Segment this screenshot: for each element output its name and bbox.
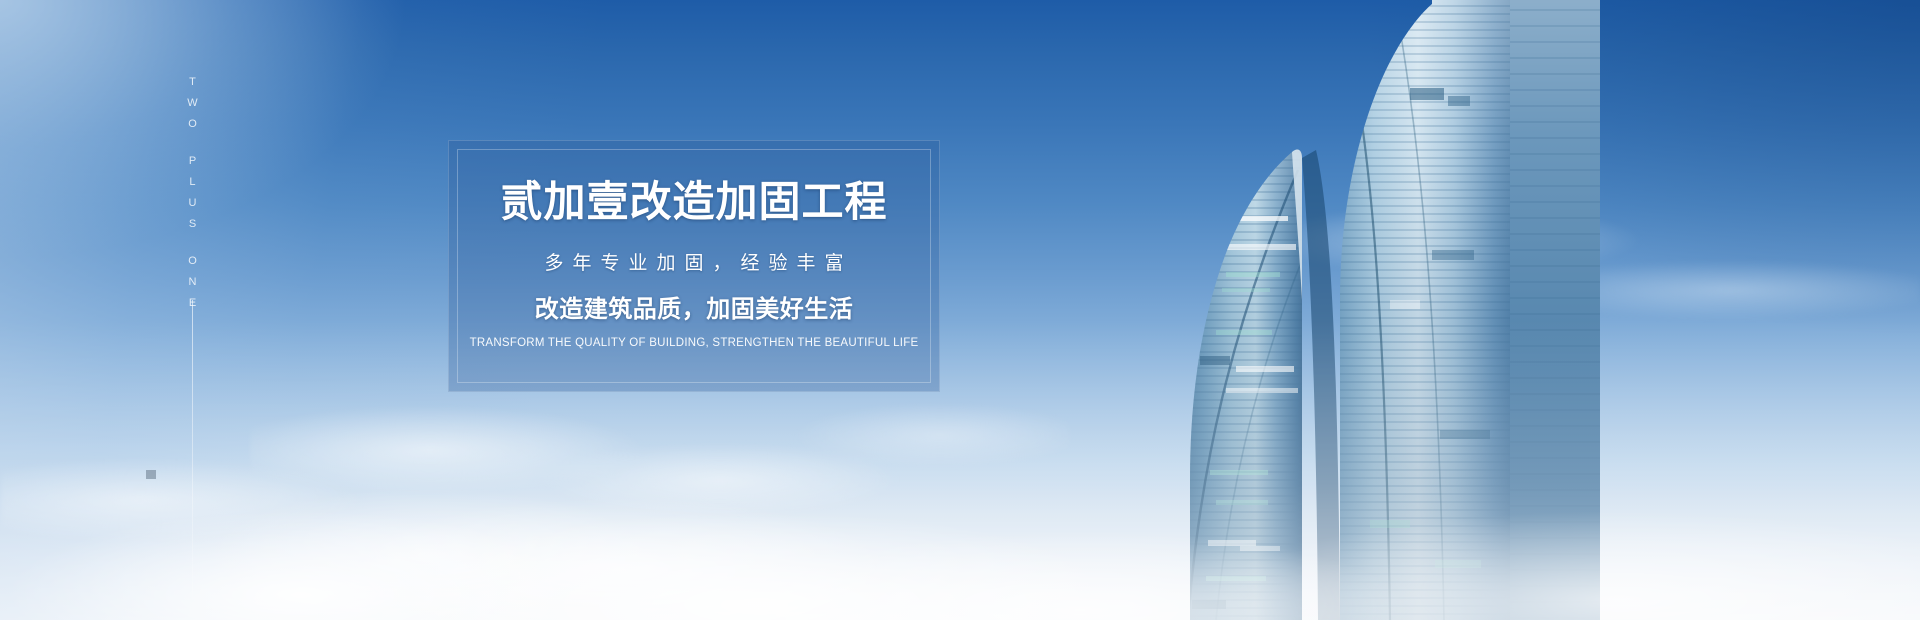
hero-tagline: 改造建筑品质，加固美好生活 (535, 298, 854, 322)
hero-text-content: 贰加壹改造加固工程 多年专业加固，经验丰富 改造建筑品质，加固美好生活 TRAN… (449, 141, 939, 391)
hero-subheadline: 多年专业加固，经验丰富 (535, 254, 852, 273)
hero-headline: 贰加壹改造加固工程 (500, 181, 887, 223)
hero-text-panel: 贰加壹改造加固工程 多年专业加固，经验丰富 改造建筑品质，加固美好生活 TRAN… (448, 140, 940, 392)
brand-word-two: T W O (187, 72, 198, 135)
vertical-brand-text: T W O P L U S O N E (176, 72, 210, 314)
brand-word-one: O N E (188, 251, 198, 314)
brand-word-plus: P L U S (189, 151, 198, 235)
hero-banner: T W O P L U S O N E 贰加壹改造加固工程 多年专业加固，经验丰… (0, 0, 1920, 620)
cloud-bank-bottom (0, 320, 1920, 620)
hero-english-tagline: TRANSFORM THE QUALITY OF BUILDING, STREN… (470, 338, 919, 350)
